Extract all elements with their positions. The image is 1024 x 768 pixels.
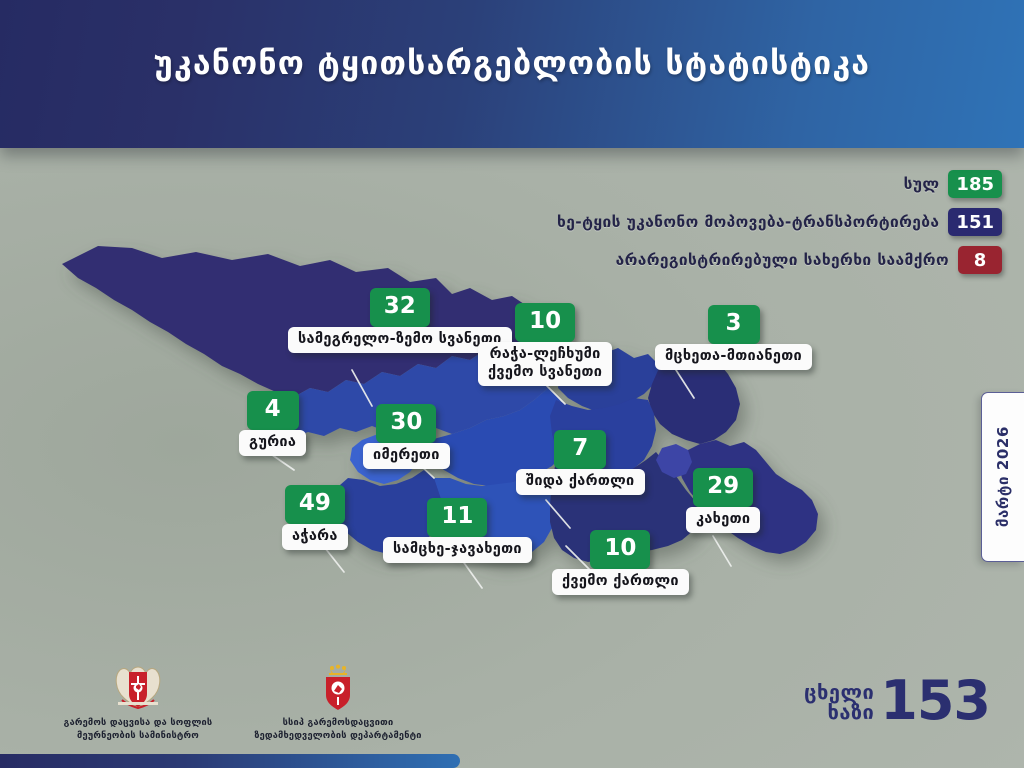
legend-label-transport: ხე-ტყის უკანონო მოპოვება-ტრანსპორტირება [557, 213, 939, 231]
leader-samegrelo [352, 370, 372, 406]
leader-shida-kartli [546, 500, 570, 528]
bottom-accent-bar [0, 754, 460, 768]
period-label: მარტი 2026 [994, 426, 1012, 527]
callout-value-samtskhe: 11 [427, 498, 487, 537]
callout-adjara: 49 აჭარა [282, 485, 348, 550]
callout-value-kakheti: 29 [693, 468, 753, 507]
callout-value-kvemo-kartli: 10 [590, 530, 650, 569]
ministry-logo-block: გარემოს დაცვისა და სოფლის მეურნეობის სამ… [48, 662, 228, 742]
callout-value-imereti: 30 [376, 404, 436, 443]
legend-label-total: სულ [904, 175, 940, 193]
callout-value-mtskheta: 3 [708, 305, 760, 344]
legend-badge-unregistered: 8 [958, 246, 1002, 274]
legend-row-transport: ხე-ტყის უკანონო მოპოვება-ტრანსპორტირება … [557, 208, 1002, 236]
callout-kakheti: 29 კახეთი [686, 468, 760, 533]
leader-mtskheta [676, 370, 694, 398]
callout-name-adjara: აჭარა [282, 524, 348, 550]
callout-samtskhe: 11 სამცხე-ჯავახეთი [383, 498, 532, 563]
callout-name-racha: რაჭა-ლეჩხუმი ქვემო სვანეთი [478, 342, 612, 386]
callout-kvemo-kartli: 10 ქვემო ქართლი [552, 530, 689, 595]
hotline-number: 153 [880, 677, 990, 726]
callout-name-kakheti: კახეთი [686, 507, 760, 533]
callout-value-racha: 10 [515, 303, 575, 342]
page-title: უკანონო ტყითსარგებლობის სტატისტიკა [0, 44, 1024, 82]
callout-shida-kartli: 7 შიდა ქართლი [516, 430, 645, 495]
callout-name-samtskhe: სამცხე-ჯავახეთი [383, 537, 532, 563]
legend-row-unregistered: არარეგისტრირებული სახერხი საამქრო 8 [616, 246, 1002, 274]
legend-badge-transport: 151 [948, 208, 1002, 236]
ministry-caption: გარემოს დაცვისა და სოფლის მეურნეობის სამ… [64, 717, 213, 742]
footer: გარემოს დაცვისა და სოფლის მეურნეობის სამ… [0, 650, 1024, 768]
legend-row-total: სულ 185 [904, 170, 1002, 198]
legend-label-unregistered: არარეგისტრირებული სახერხი საამქრო [616, 251, 949, 269]
callout-name-shida-kartli: შიდა ქართლი [516, 469, 645, 495]
callout-name-kvemo-kartli: ქვემო ქართლი [552, 569, 689, 595]
callout-name-imereti: იმერეთი [363, 443, 450, 469]
hotline-block: ცხელი ხაზი 153 [804, 677, 990, 726]
hotline-label: ცხელი ხაზი [804, 682, 874, 722]
callout-name-mtskheta: მცხეთა-მთიანეთი [655, 344, 812, 370]
department-logo-block: სსიპ გარემოსდაცვითი ზედამხედველობის დეპა… [238, 664, 438, 742]
callout-value-samegrelo: 32 [370, 288, 430, 327]
callout-value-shida-kartli: 7 [554, 430, 606, 469]
page-header: უკანონო ტყითსარგებლობის სტატისტიკა [0, 0, 1024, 148]
callout-imereti: 30 იმერეთი [363, 404, 450, 469]
callout-racha: 10 რაჭა-ლეჩხუმი ქვემო სვანეთი [478, 303, 612, 386]
callout-mtskheta: 3 მცხეთა-მთიანეთი [655, 305, 812, 370]
georgia-coat-of-arms-icon [110, 662, 166, 712]
callout-name-guria: გურია [239, 430, 306, 456]
legend-badge-total: 185 [948, 170, 1002, 198]
leader-samtskhe [462, 560, 482, 588]
infographic-canvas: უკანონო ტყითსარგებლობის სტატისტიკა სულ 1… [0, 0, 1024, 768]
callout-value-adjara: 49 [285, 485, 345, 524]
department-caption: სსიპ გარემოსდაცვითი ზედამხედველობის დეპა… [254, 717, 421, 742]
callout-value-guria: 4 [247, 391, 299, 430]
leader-kakheti [713, 536, 731, 566]
leader-adjara [325, 548, 344, 572]
legend: სულ 185 ხე-ტყის უკანონო მოპოვება-ტრანსპო… [557, 170, 1002, 274]
callout-guria: 4 გურია [239, 391, 306, 456]
department-emblem-icon [321, 664, 355, 712]
period-tab: მარტი 2026 [981, 392, 1024, 562]
